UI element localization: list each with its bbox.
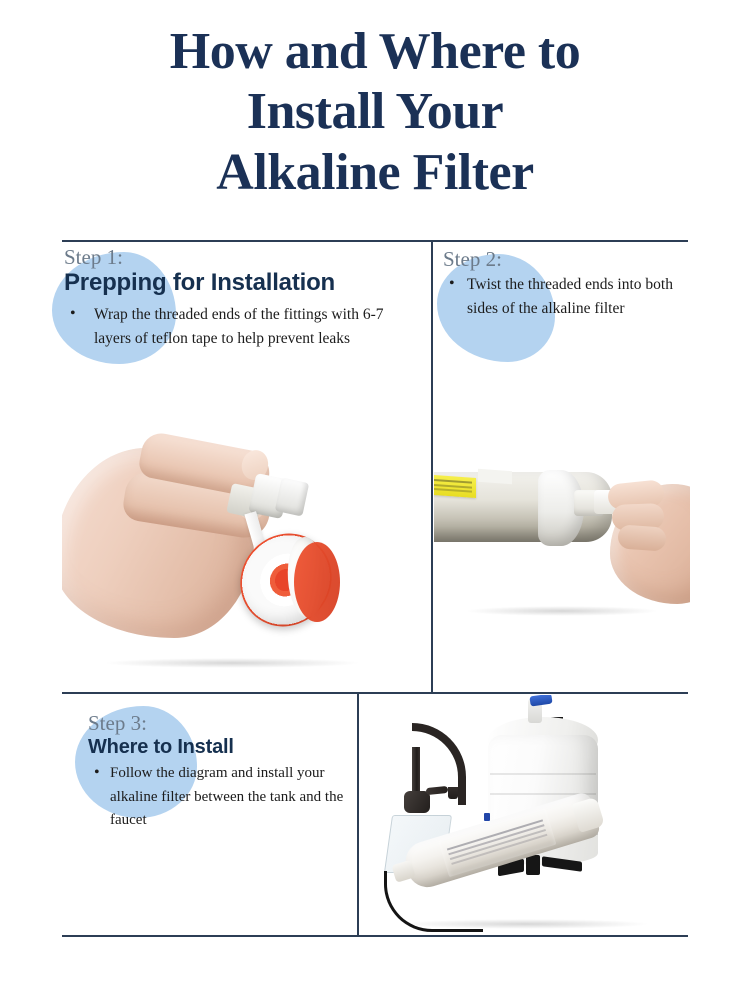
tank-seam-1 [490,773,596,775]
step-3-heading: Where to Install [88,736,358,758]
finger-3 [617,524,667,551]
photo-shadow [103,658,361,668]
fitting-thread [275,477,309,516]
list-item: Follow the diagram and install your alka… [88,762,358,832]
filter-white-label [478,469,512,484]
step-2-label: Step 2: [443,248,693,271]
page-title: How and Where to Install Your Alkaline F… [50,22,700,203]
step-3-photo [360,695,690,935]
teflon-tape-rim [294,542,340,622]
step-1-photo [62,424,402,674]
divider-middle [62,692,688,694]
tank-leg-right [542,856,582,872]
step-1-heading: Prepping for Installation [64,270,414,297]
page-title-line-3: Alkaline Filter [50,143,700,203]
step-1-bullet-list: Wrap the threaded ends of the fittings w… [64,303,414,351]
divider-top [62,240,688,242]
tank-valve-handle-blue [529,695,552,706]
step-3-bullet-list: Follow the diagram and install your alka… [88,762,358,832]
page-title-line-1: How and Where to [50,22,700,82]
faucet-body [404,791,430,813]
list-item: Wrap the threaded ends of the fittings w… [64,303,414,351]
page-title-line-2: Install Your [50,82,700,142]
step-3-label: Step 3: [88,712,358,735]
step-3-block: Step 3: Where to Install Follow the diag… [88,712,358,832]
divider-vertical-upper [431,241,433,692]
faucet-spout [448,787,458,799]
step-1-block: Step 1: Prepping for Installation Wrap t… [64,246,414,351]
infographic-page: How and Where to Install Your Alkaline F… [0,0,750,1000]
filter-yellow-label [434,474,476,498]
photo-shadow [465,606,660,616]
divider-bottom [62,935,688,937]
step-2-block: Step 2: Twist the threaded ends into bot… [443,248,693,321]
step-1-label: Step 1: [64,246,414,269]
step-2-photo [434,432,690,622]
step-2-bullet-list: Twist the threaded ends into both sides … [443,273,693,321]
photo-shadow [400,919,651,929]
list-item: Twist the threaded ends into both sides … [443,273,693,321]
